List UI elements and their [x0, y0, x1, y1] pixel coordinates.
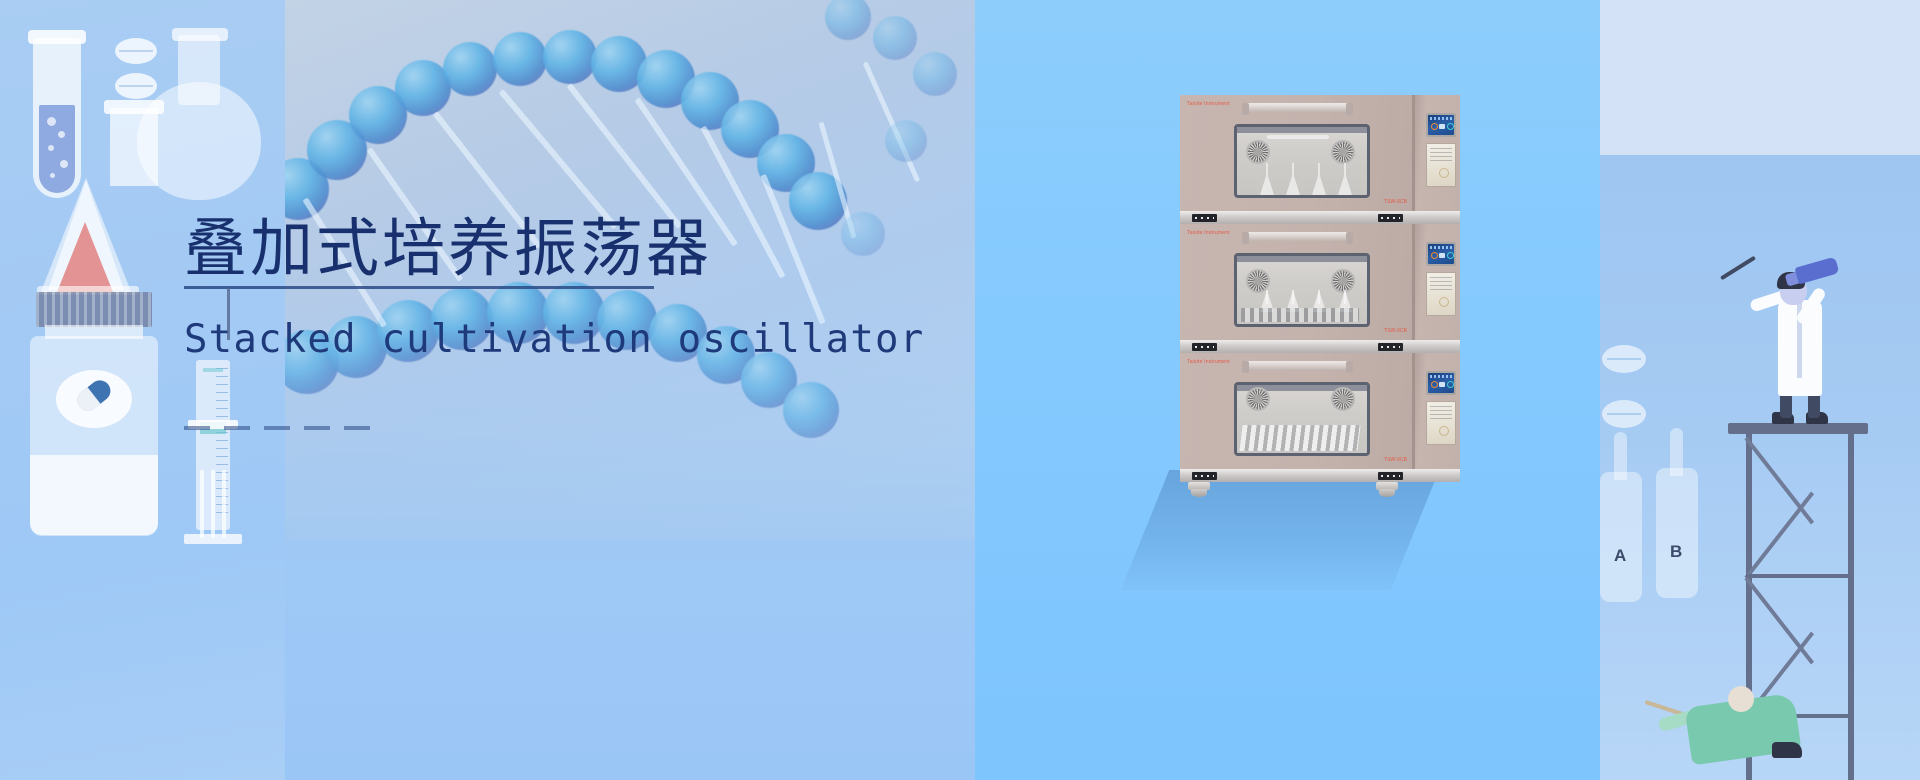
fan-hub	[1254, 277, 1262, 285]
title-tick-mark	[227, 288, 230, 340]
foot-right	[1376, 482, 1398, 490]
document-holder	[1426, 143, 1456, 187]
brand-label: Taisite Instrument	[1187, 359, 1230, 365]
control-panel[interactable]	[1426, 371, 1456, 395]
brand-label: Taisite Instrument	[1187, 230, 1230, 236]
page-subtitle: Stacked cultivation oscillator	[184, 317, 924, 362]
ampoule-a-label: A	[1614, 546, 1626, 566]
syringe-rod	[211, 470, 215, 538]
screen-top-bar	[1430, 375, 1452, 378]
syringe-flange	[184, 534, 242, 544]
screen-top-bar	[1430, 246, 1452, 249]
panel-lab-glassware	[0, 0, 285, 780]
erlenmeyer-neck-icon	[110, 108, 158, 186]
base-plinth	[1180, 469, 1460, 482]
speed-gauge-icon	[1447, 123, 1454, 130]
foot-left	[1188, 482, 1210, 490]
ampoule-a	[1600, 472, 1642, 602]
document-holder	[1426, 401, 1456, 445]
fan-hub	[1254, 148, 1262, 156]
document-stamp-icon	[1439, 297, 1449, 307]
handle-bracket-left	[1242, 103, 1249, 115]
handle-bracket-right	[1346, 361, 1353, 373]
fan-hub	[1339, 395, 1347, 403]
fan-hub	[1339, 277, 1347, 285]
screen-readout	[1439, 382, 1445, 387]
lcd-screen[interactable]	[1428, 244, 1454, 264]
vent-icon	[1378, 214, 1403, 222]
product-banner: Taisite Instrument	[0, 0, 1920, 780]
control-panel[interactable]	[1426, 242, 1456, 266]
syringe-rod	[200, 470, 204, 538]
vent-icon	[1192, 343, 1217, 351]
document-text-lines	[1430, 148, 1452, 164]
shaker-body: Taisite Instrument	[1180, 224, 1415, 340]
handle-bracket-right	[1346, 232, 1353, 244]
door-handle	[1243, 232, 1353, 241]
door-handle	[1243, 361, 1353, 370]
sample-tray	[1241, 308, 1359, 322]
shaker-tier: Taisite Instrument TSW-XCB	[1180, 353, 1460, 469]
syringe-rod	[222, 470, 226, 538]
document-stamp-icon	[1439, 168, 1449, 178]
door-handle	[1243, 103, 1353, 112]
vent-icon	[1192, 472, 1217, 480]
reagent-bottle-label	[30, 455, 158, 535]
document-text-lines	[1430, 277, 1452, 293]
panel-product-photo: Taisite Instrument	[975, 0, 1600, 780]
vent-icon	[1378, 343, 1403, 351]
fan-hub	[1254, 395, 1262, 403]
shaker-tier: Taisite Instrument	[1180, 95, 1460, 211]
machine-feet	[1180, 482, 1460, 500]
tower-leg	[1848, 434, 1854, 780]
test-tube-rack	[1239, 425, 1360, 451]
panel-scientist-illustration: A B	[1600, 0, 1920, 780]
shaker-body: Taisite Instrument	[1180, 95, 1415, 211]
handle-bracket-left	[1242, 361, 1249, 373]
model-label: TSW-XCB	[1384, 199, 1407, 205]
capsule-line	[119, 50, 153, 52]
screen-readout	[1439, 253, 1445, 258]
title-underline	[184, 286, 654, 289]
illustration-sky	[1600, 155, 1920, 780]
speed-gauge-icon	[1447, 381, 1454, 388]
ampoule-b-label: B	[1670, 542, 1682, 562]
vent-icon	[1192, 214, 1217, 222]
dna-bottom-band	[285, 540, 975, 780]
screen-readout	[1439, 124, 1445, 129]
capsule-line	[1607, 358, 1641, 360]
control-panel[interactable]	[1426, 113, 1456, 137]
capsule-line	[1607, 413, 1641, 415]
document-text-lines	[1430, 406, 1452, 422]
tower-crossbar	[1746, 574, 1854, 578]
reagent-bottle-cap-icon	[36, 292, 152, 327]
temperature-gauge-icon	[1431, 123, 1438, 130]
screen-top-bar	[1430, 117, 1452, 120]
speed-gauge-icon	[1447, 252, 1454, 259]
capsule-line	[119, 85, 153, 87]
window-top-lip	[1237, 127, 1367, 133]
fan-hub	[1339, 148, 1347, 156]
shaker-body: Taisite Instrument TSW-XCB	[1180, 353, 1415, 469]
lab-worker-head	[1728, 686, 1754, 712]
syringe-liquid-top	[203, 368, 223, 372]
title-dashed-rule	[184, 426, 374, 430]
erlenmeyer-liquid	[57, 222, 113, 292]
handle-bracket-left	[1242, 232, 1249, 244]
document-stamp-icon	[1439, 426, 1449, 436]
ampoule-b	[1656, 468, 1698, 598]
tier-plinth	[1180, 340, 1460, 353]
model-label: TSW-XCB	[1384, 328, 1407, 334]
window-top-lip	[1237, 256, 1367, 262]
chamber-window	[1234, 124, 1370, 198]
page-title: 叠加式培养振荡器	[184, 214, 924, 283]
chamber-window	[1234, 253, 1370, 327]
chamber-window	[1234, 382, 1370, 456]
stacked-incubator-shaker: Taisite Instrument	[1180, 95, 1460, 500]
banner-headline: 叠加式培养振荡器 Stacked cultivation oscillator	[184, 214, 924, 362]
panel-dna-photo	[285, 0, 975, 780]
model-label: TSW-XCB	[1384, 457, 1407, 463]
tower-platform	[1728, 423, 1868, 434]
handle-bracket-right	[1346, 103, 1353, 115]
interior-lamp-icon	[1267, 135, 1329, 139]
temperature-gauge-icon	[1431, 381, 1438, 388]
tier-plinth	[1180, 211, 1460, 224]
shaker-tier: Taisite Instrument	[1180, 224, 1460, 340]
lcd-screen[interactable]	[1428, 373, 1454, 393]
document-holder	[1426, 272, 1456, 316]
lcd-screen[interactable]	[1428, 115, 1454, 135]
lab-worker-shoe	[1772, 742, 1802, 758]
temperature-gauge-icon	[1431, 252, 1438, 259]
vent-icon	[1378, 472, 1403, 480]
brand-label: Taisite Instrument	[1187, 101, 1230, 107]
